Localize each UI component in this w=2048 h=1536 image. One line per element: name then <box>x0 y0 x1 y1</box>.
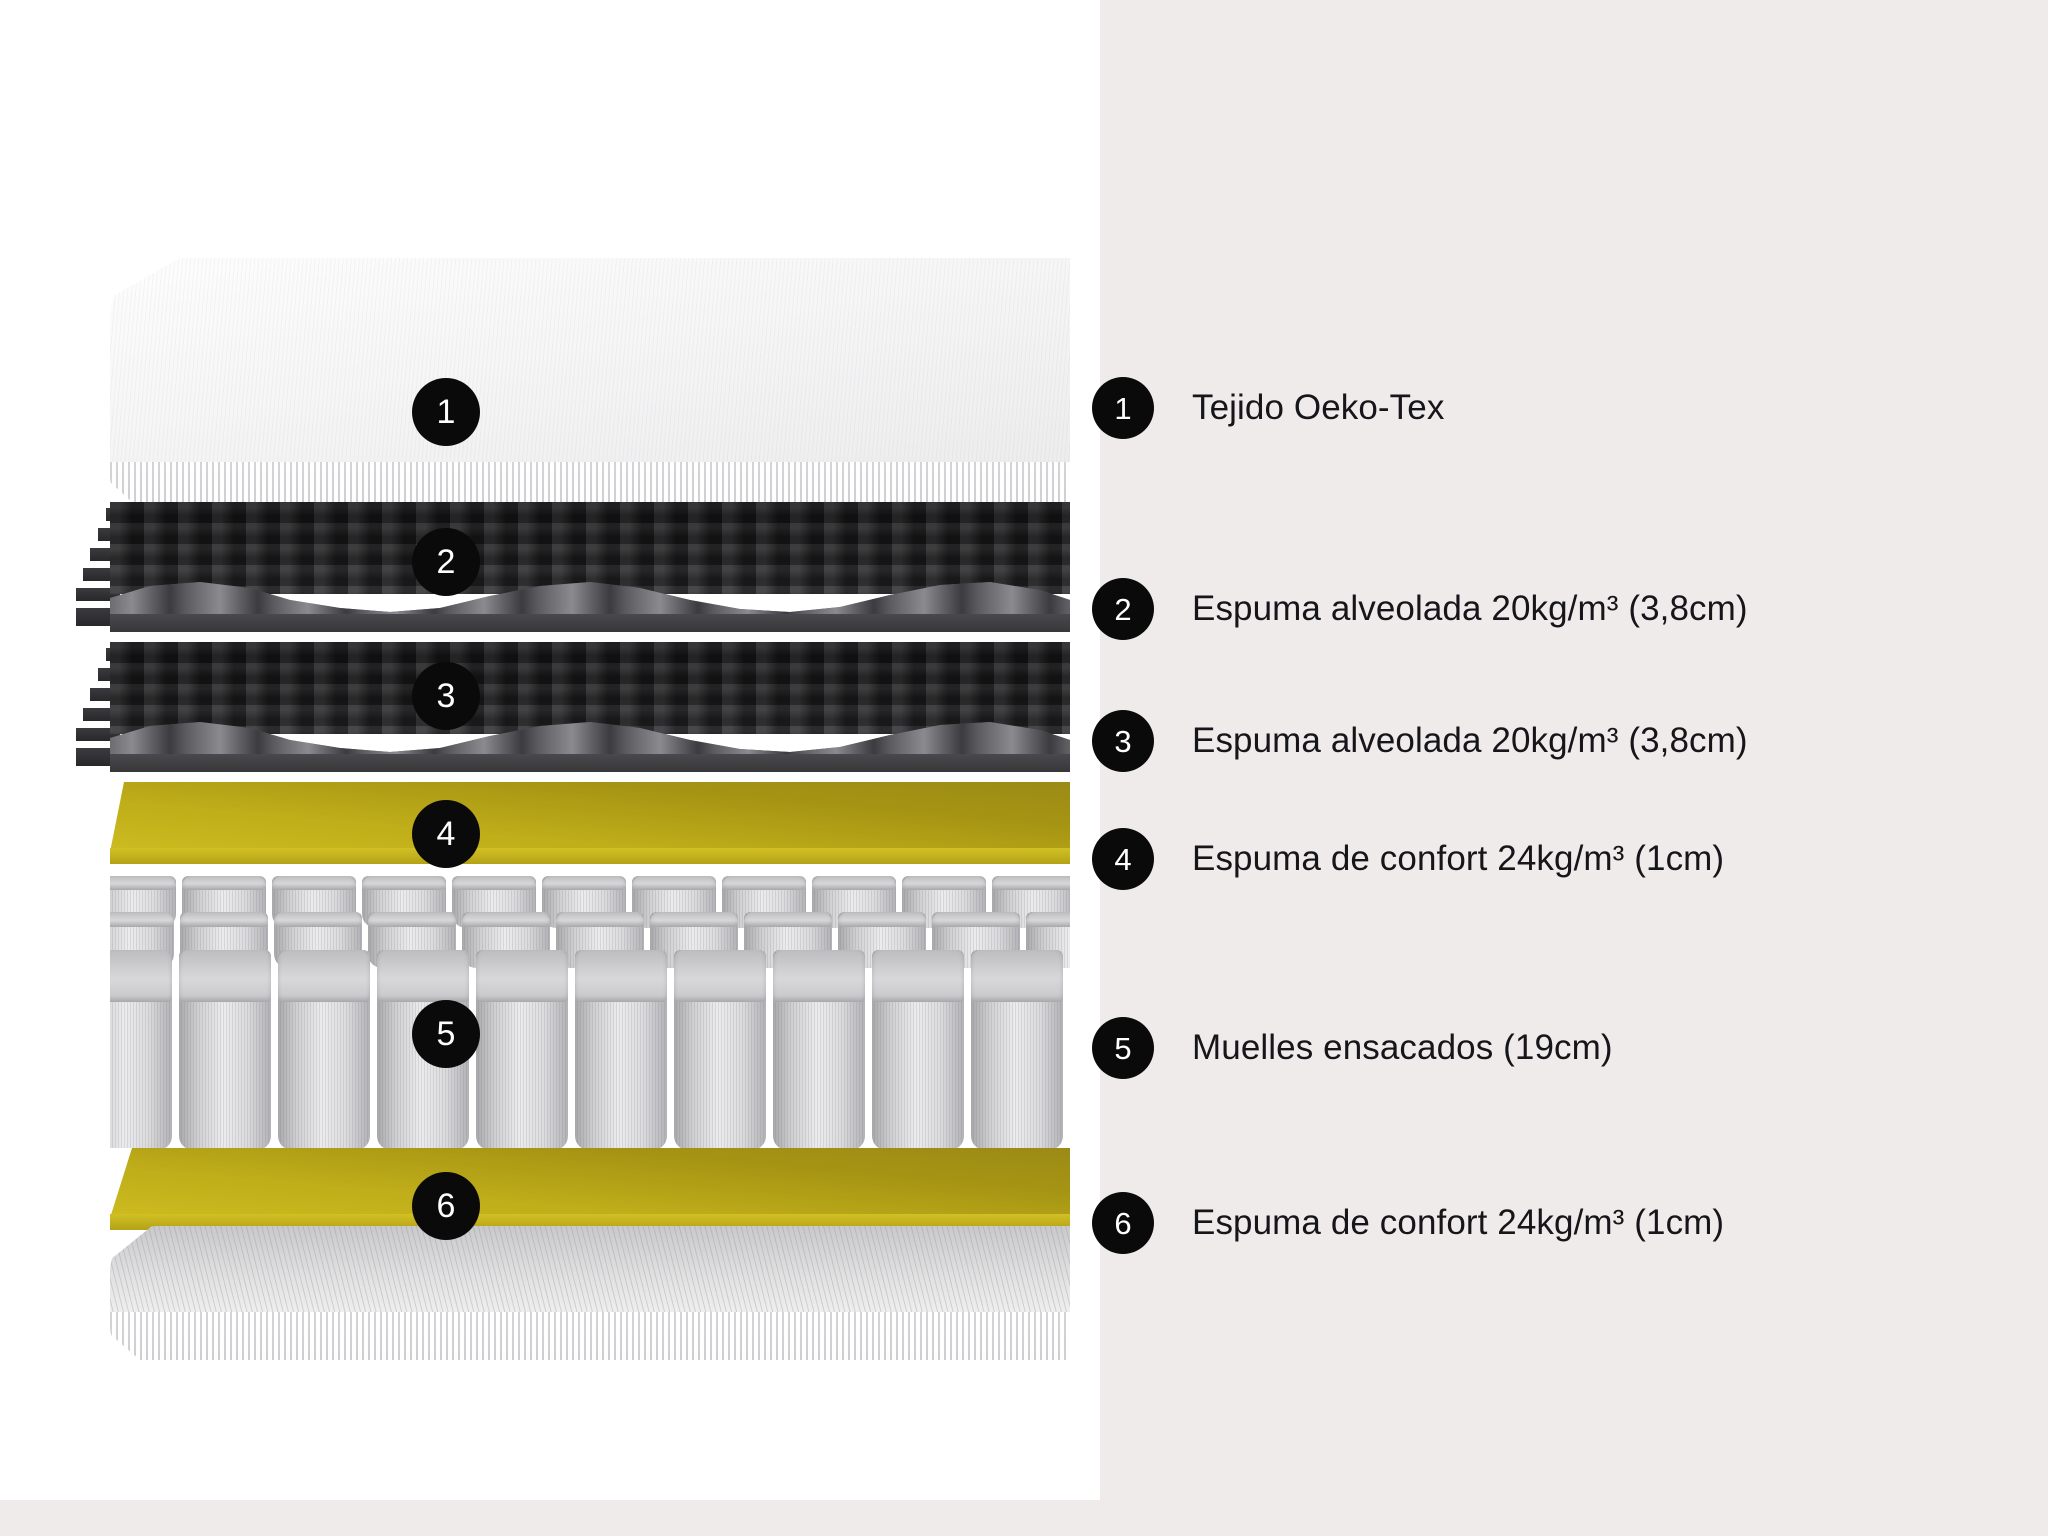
layer-3-foam-base-edge <box>110 754 1070 772</box>
legend-row-6[interactable]: 6 Espuma de confort 24kg/m³ (1cm) <box>1092 1192 1724 1254</box>
layer-2-foam-base-edge <box>110 614 1070 632</box>
mattress-cutaway-illustration: 1 2 3 4 5 6 <box>0 0 1100 1536</box>
legend-label-1: Tejido Oeko-Tex <box>1192 388 1444 428</box>
legend-badge-3: 3 <box>1092 710 1154 772</box>
legend-row-3[interactable]: 3 Espuma alveolada 20kg/m³ (3,8cm) <box>1092 710 1748 772</box>
legend-row-5[interactable]: 5 Muelles ensacados (19cm) <box>1092 1017 1613 1079</box>
legend-label-2: Espuma alveolada 20kg/m³ (3,8cm) <box>1192 589 1748 629</box>
legend-label-5: Muelles ensacados (19cm) <box>1192 1028 1613 1068</box>
mattress-base-fabric-edge <box>110 1312 1070 1360</box>
layer-2-foam-top-surface <box>110 502 1070 594</box>
legend-badge-2: 2 <box>1092 578 1154 640</box>
image-badge-4[interactable]: 4 <box>412 800 480 868</box>
image-badge-1[interactable]: 1 <box>412 378 480 446</box>
legend-row-1[interactable]: 1 Tejido Oeko-Tex <box>1092 377 1444 439</box>
legend-label-4: Espuma de confort 24kg/m³ (1cm) <box>1192 839 1724 879</box>
layer-5-pocketed-springs <box>110 876 1070 1148</box>
mattress-layers-infographic: 1 2 3 4 5 6 1 Tejido Oeko-Tex 2 Espuma a… <box>0 0 2048 1536</box>
layer-4-comfort-foam <box>110 782 1070 877</box>
image-badge-6[interactable]: 6 <box>412 1172 480 1240</box>
image-badge-2[interactable]: 2 <box>412 528 480 596</box>
legend-badge-4: 4 <box>1092 828 1154 890</box>
layer-4-comfort-foam-edge <box>110 848 1070 864</box>
layer-2-convoluted-foam <box>110 502 1070 632</box>
legend-badge-5: 5 <box>1092 1017 1154 1079</box>
layer-6-comfort-foam-surface <box>110 1148 1070 1218</box>
image-badge-3[interactable]: 3 <box>412 662 480 730</box>
image-badge-5[interactable]: 5 <box>412 1000 480 1068</box>
legend-badge-6: 6 <box>1092 1192 1154 1254</box>
spring-row-front <box>110 950 1070 1148</box>
layer-3-convoluted-foam <box>110 642 1070 772</box>
layers-legend: 1 Tejido Oeko-Tex 2 Espuma alveolada 20k… <box>1092 0 1992 1536</box>
legend-row-2[interactable]: 2 Espuma alveolada 20kg/m³ (3,8cm) <box>1092 578 1748 640</box>
legend-label-3: Espuma alveolada 20kg/m³ (3,8cm) <box>1192 721 1748 761</box>
layer-1-oeko-tex-fabric-surface <box>110 258 1070 473</box>
legend-badge-1: 1 <box>1092 377 1154 439</box>
legend-row-4[interactable]: 4 Espuma de confort 24kg/m³ (1cm) <box>1092 828 1724 890</box>
legend-label-6: Espuma de confort 24kg/m³ (1cm) <box>1192 1203 1724 1243</box>
layer-4-comfort-foam-surface <box>110 782 1070 852</box>
layer-1-oeko-tex-fabric-edge <box>110 462 1070 502</box>
layer-3-foam-top-surface <box>110 642 1070 734</box>
mattress-base-fabric-surface <box>110 1226 1070 1322</box>
